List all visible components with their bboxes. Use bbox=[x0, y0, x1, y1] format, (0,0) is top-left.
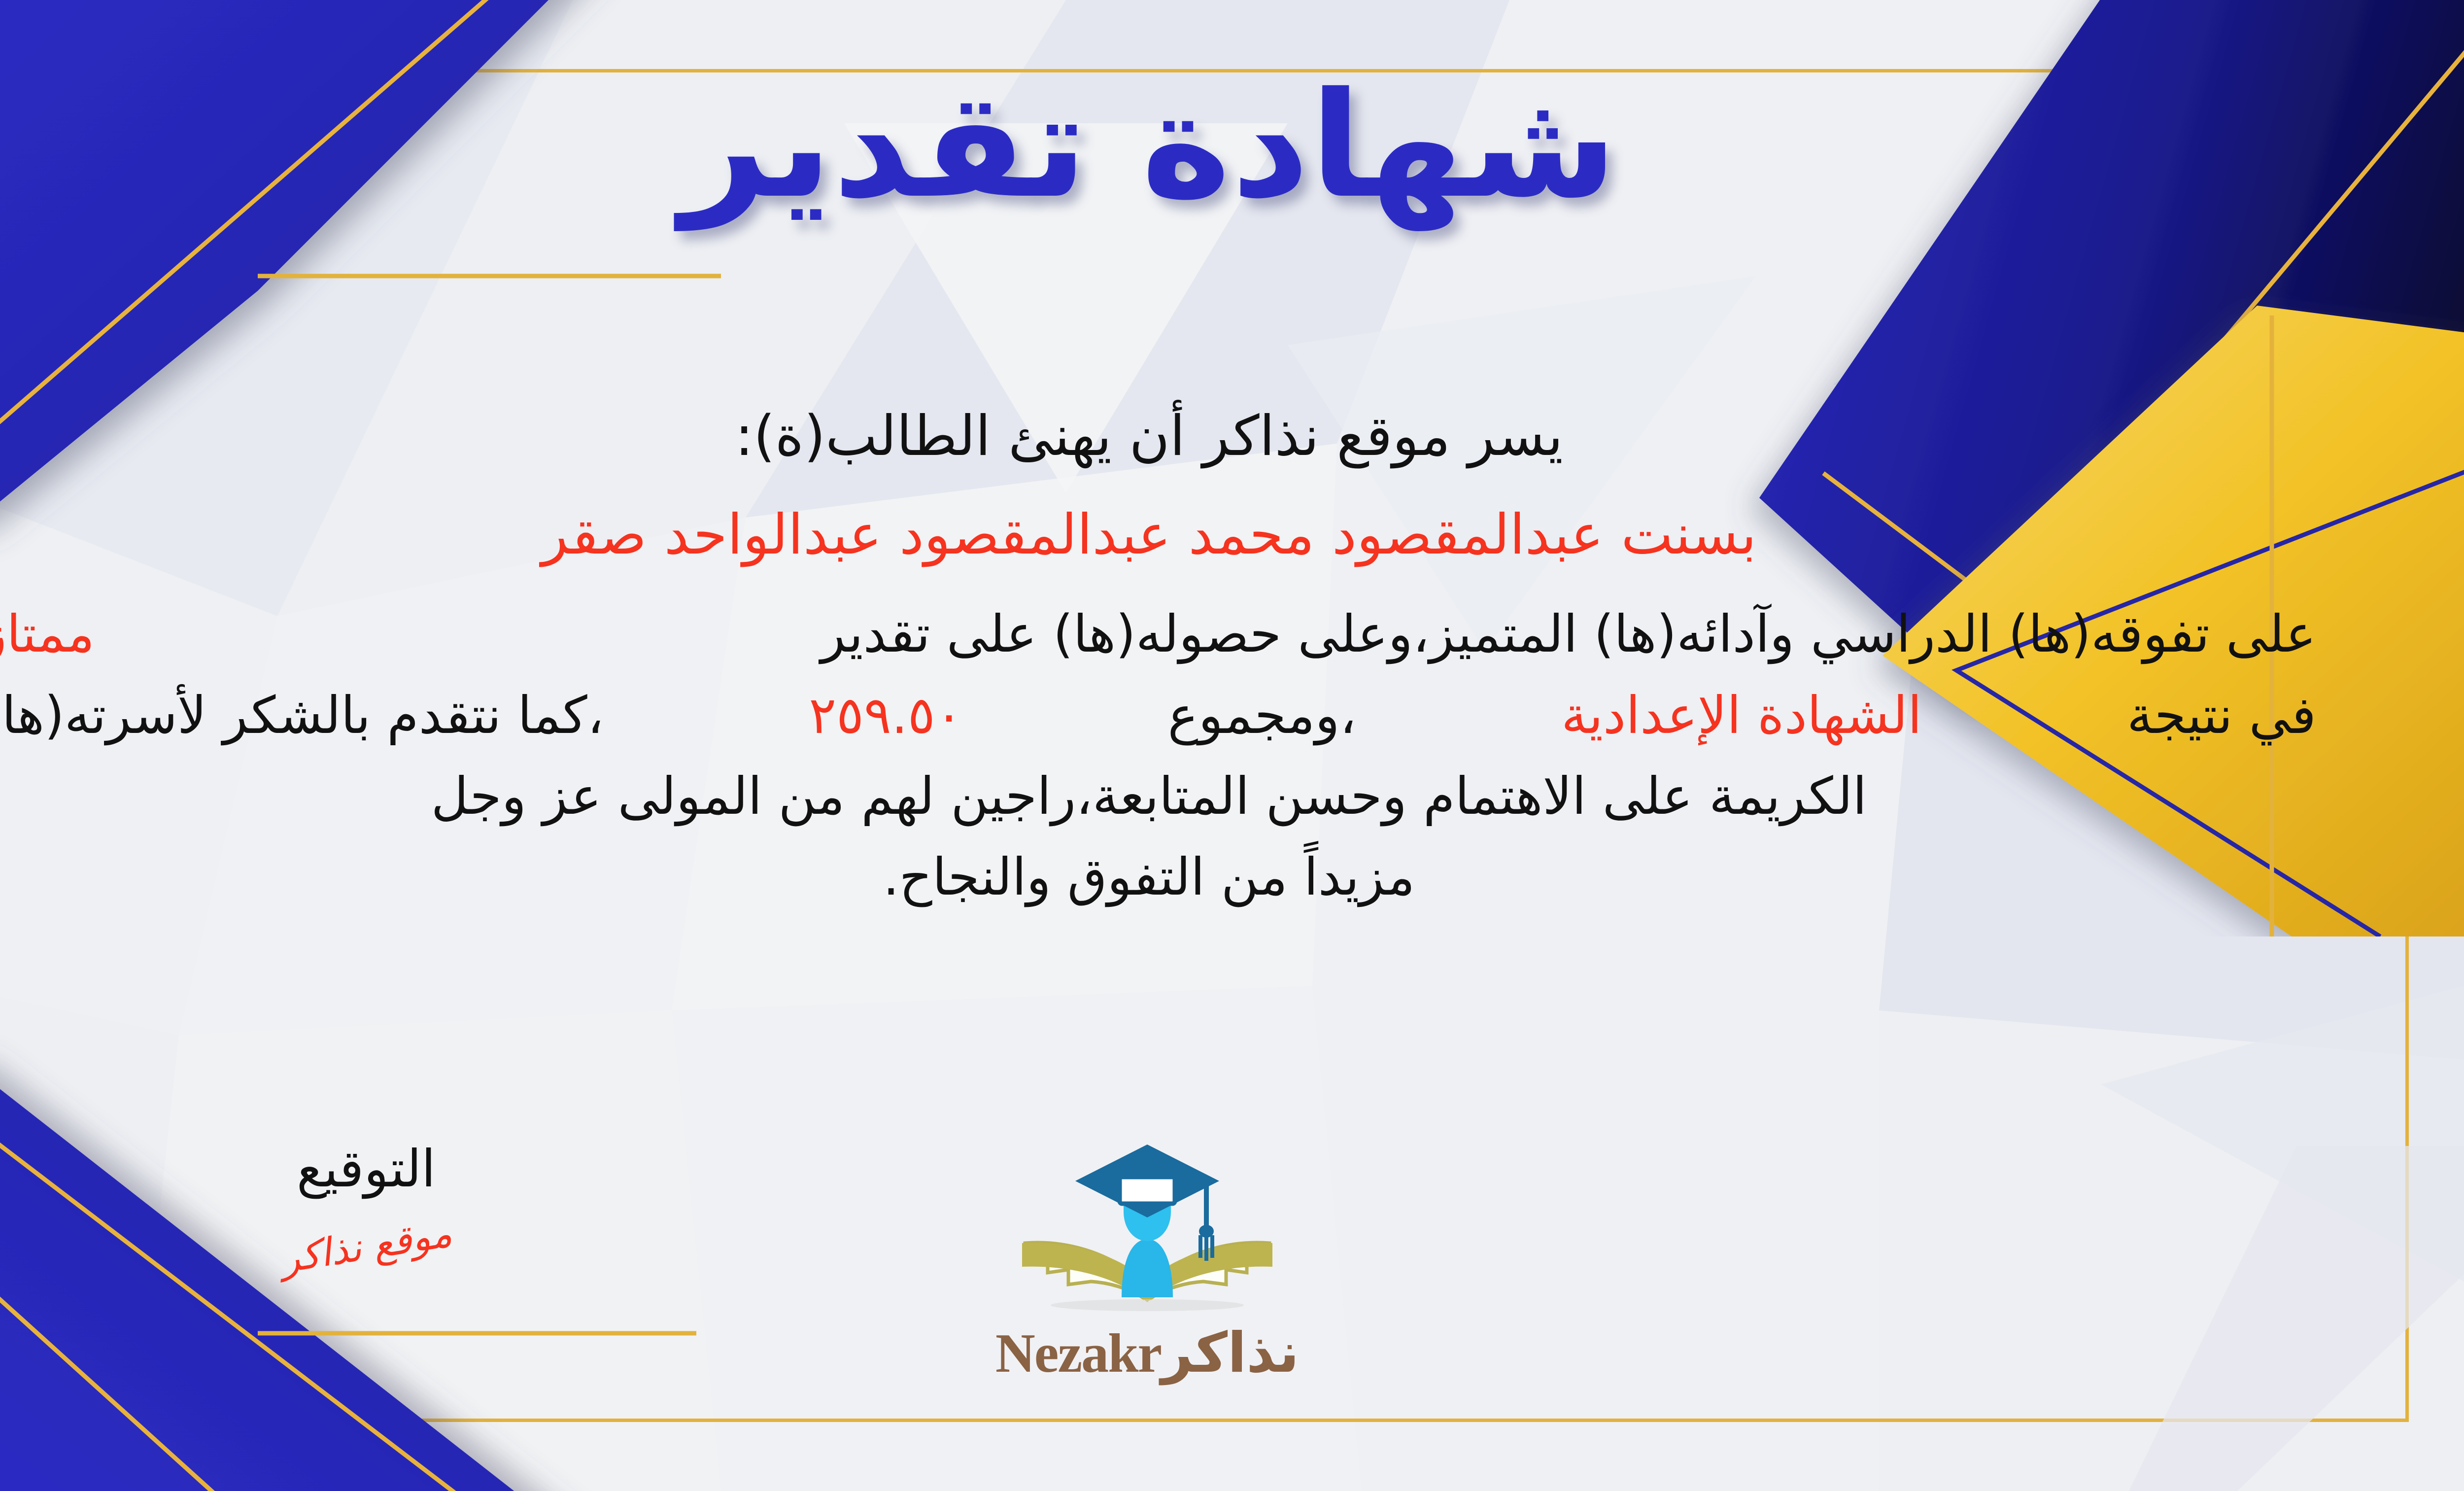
closing-wish-text: مزيداً من التفوق والنجاح. bbox=[883, 836, 1415, 917]
site-logo: نذاكرNezakr bbox=[943, 1119, 1352, 1386]
family-thanks-text: الكريمة على الاهتمام وحسن المتابعة،راجين… bbox=[431, 756, 1867, 836]
logo-arabic-text: نذاكر bbox=[1161, 1321, 1299, 1385]
logo-wordmark: نذاكرNezakr bbox=[943, 1321, 1352, 1386]
student-name: بسنت عبدالمقصود محمد عبدالمقصود عبدالواح… bbox=[0, 493, 2316, 577]
grade-value: ممتاز bbox=[0, 593, 95, 674]
achievement-line-2: في نتيجة الشهادة الإعدادية ،ومجموع ٢٥٩.٥… bbox=[0, 675, 2316, 756]
signature-block: التوقيع موقع نذاكر bbox=[208, 1139, 524, 1269]
achievement-line-4: مزيداً من التفوق والنجاح. bbox=[0, 836, 2316, 917]
graduation-book-icon bbox=[994, 1119, 1300, 1316]
thanks-text: ،كما نتقدم بالشكر لأسرته(ها) bbox=[0, 675, 604, 756]
result-label: في نتيجة bbox=[2127, 675, 2316, 756]
achievement-line-1: على تفوقه(ها) الدراسي وآدائه(ها) المتميز… bbox=[0, 593, 2316, 674]
exam-name: الشهادة الإعدادية bbox=[1561, 675, 1922, 756]
achievement-line-3: الكريمة على الاهتمام وحسن المتابعة،راجين… bbox=[0, 756, 2316, 836]
certificate-canvas: شهادة تقدير يسر موقع نذاكر أن يهنئ الطال… bbox=[0, 0, 2464, 1491]
achievement-paragraph: على تفوقه(ها) الدراسي وآدائه(ها) المتميز… bbox=[0, 593, 2316, 917]
intro-line: يسر موقع نذاكر أن يهنئ الطالب(ة): bbox=[0, 394, 2316, 478]
signature-mark: موقع نذاكر bbox=[277, 1211, 455, 1282]
achievement-text: على تفوقه(ها) الدراسي وآدائه(ها) المتميز… bbox=[821, 593, 2316, 674]
certificate-body: يسر موقع نذاكر أن يهنئ الطالب(ة): بسنت ع… bbox=[0, 394, 2316, 918]
total-label: ،ومجموع bbox=[1168, 675, 1357, 756]
logo-latin-text: Nezakr bbox=[995, 1323, 1161, 1384]
signature-label: التوقيع bbox=[208, 1139, 524, 1199]
certificate-title: شهادة تقدير bbox=[0, 64, 2464, 227]
total-score: ٢٥٩.٥٠ bbox=[809, 675, 962, 756]
